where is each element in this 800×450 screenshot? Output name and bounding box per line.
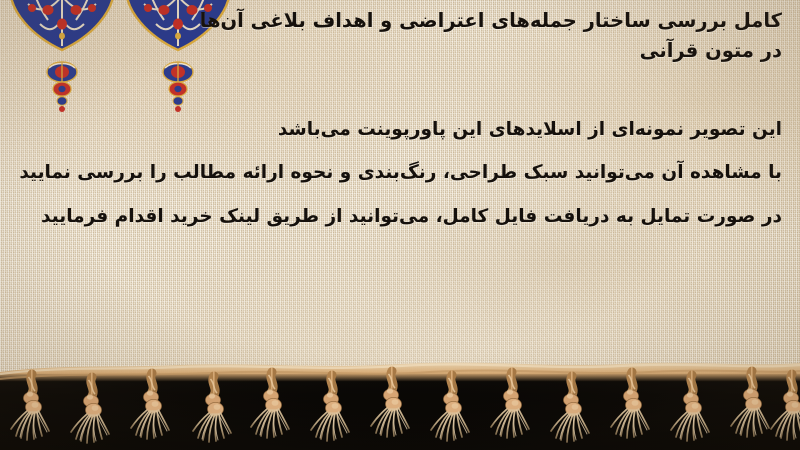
slide-body: این تصویر نمونه‌ای از اسلایدهای این پاور… <box>18 108 782 238</box>
title-line-2: در متون قرآنی <box>22 36 782 66</box>
title-line-1: کامل بررسی ساختار جمله‌های اعتراضی و اهد… <box>22 6 782 36</box>
presentation-slide: کامل بررسی ساختار جمله‌های اعتراضی و اهد… <box>0 0 800 450</box>
bottom-black-band <box>0 374 800 450</box>
slide-title: کامل بررسی ساختار جمله‌های اعتراضی و اهد… <box>22 6 782 65</box>
body-line-3: در صورت تمایل به دریافت فایل کامل، می‌تو… <box>18 195 782 238</box>
body-line-1: این تصویر نمونه‌ای از اسلایدهای این پاور… <box>18 108 782 151</box>
body-line-2: با مشاهده آن می‌توانید سبک طراحی، رنگ‌بن… <box>18 151 782 194</box>
